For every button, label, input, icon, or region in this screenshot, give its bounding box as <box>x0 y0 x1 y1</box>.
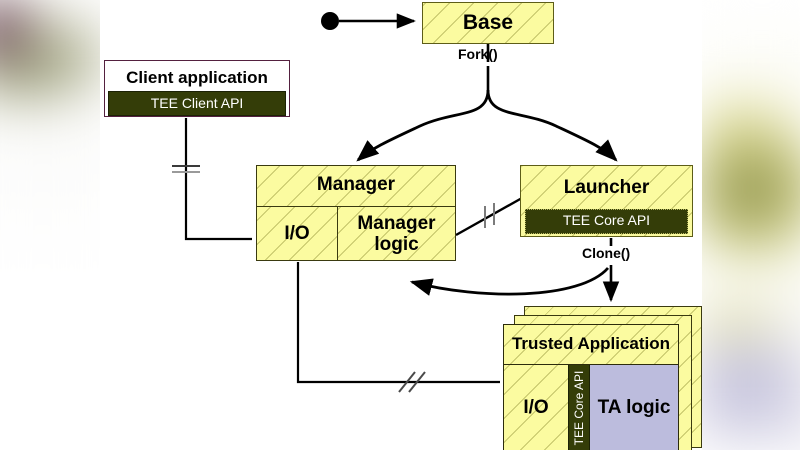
diagram-canvas: Base Client application TEE Client API M… <box>0 0 800 450</box>
node-manager-title: Manager <box>257 166 455 207</box>
node-launcher-title: Launcher <box>525 166 688 209</box>
manager-logic-cell[interactable]: Manager logic <box>338 207 455 260</box>
ta-tee-core-api-label: TEE Core API <box>572 370 586 445</box>
tee-client-api-band: TEE Client API <box>108 91 286 116</box>
node-trusted-application-compartments: I/O TEE Core API TA logic <box>504 365 678 450</box>
ta-tee-core-api-band: TEE Core API <box>568 365 590 450</box>
node-base[interactable]: Base <box>422 2 554 44</box>
node-base-label: Base <box>423 3 553 42</box>
node-client-application[interactable]: Client application TEE Client API <box>104 60 290 117</box>
node-manager[interactable]: Manager I/O Manager logic <box>256 165 456 261</box>
edge-label-clone: Clone() <box>582 245 630 261</box>
node-trusted-application[interactable]: Trusted Application I/O TEE Core API TA … <box>503 324 679 450</box>
blurred-right-background <box>692 0 800 450</box>
node-client-title: Client application <box>108 64 286 91</box>
blurred-left-background <box>0 0 115 450</box>
node-manager-compartments: I/O Manager logic <box>257 207 455 260</box>
node-launcher[interactable]: Launcher TEE Core API <box>520 165 693 237</box>
launcher-tee-core-api-band: TEE Core API <box>525 209 688 234</box>
edge-label-fork: Fork() <box>458 46 498 62</box>
ta-io-cell[interactable]: I/O <box>504 365 568 450</box>
ta-logic-cell[interactable]: TA logic <box>590 365 678 450</box>
manager-io-cell[interactable]: I/O <box>257 207 338 260</box>
node-trusted-application-title: Trusted Application <box>504 325 678 365</box>
